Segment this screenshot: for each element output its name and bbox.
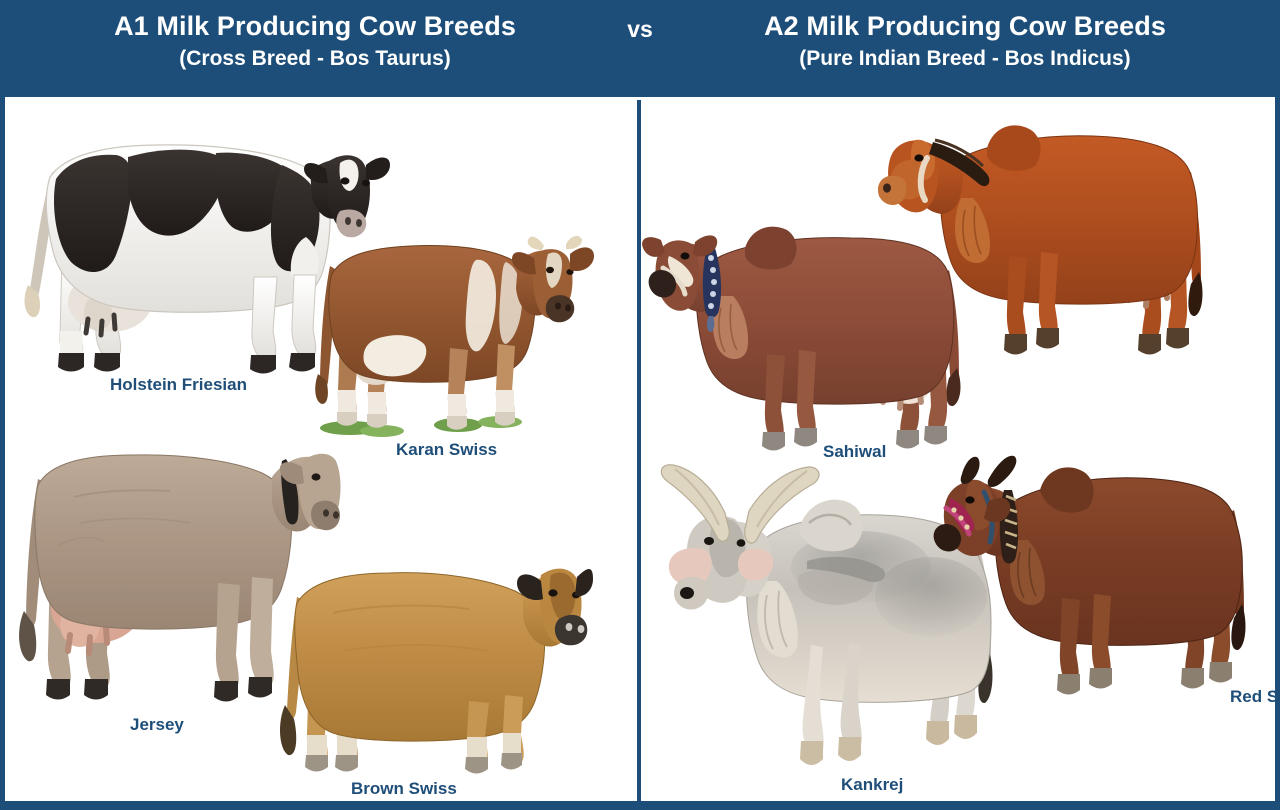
breed-card-karan-swiss[interactable]: Karan Swiss	[310, 232, 595, 462]
header-right-title: A2 Milk Producing Cow Breeds	[650, 8, 1280, 44]
breed-card-gir[interactable]: Gir	[879, 112, 1219, 382]
a1-vs-a2-cow-breeds-infographic: A1 Milk Producing Cow Breeds (Cross Bree…	[0, 0, 1280, 810]
breed-label-kankrej: Kankrej	[841, 775, 903, 795]
panel-a1-breeds: Holstein Friesian	[5, 97, 637, 801]
brown-swiss-illustration	[273, 557, 593, 787]
red-sindhi-illustration	[936, 432, 1261, 707]
header-left-title: A1 Milk Producing Cow Breeds	[0, 8, 630, 44]
breed-label-holstein-friesian: Holstein Friesian	[110, 375, 247, 395]
header-left-subtitle: (Cross Breed - Bos Taurus)	[0, 44, 630, 74]
header-left-column: A1 Milk Producing Cow Breeds (Cross Bree…	[0, 8, 630, 74]
breed-label-jersey: Jersey	[130, 715, 184, 735]
breed-card-red-sindhi[interactable]: Red Sindhi	[936, 432, 1261, 722]
panel-a2-breeds: Sahiwal	[641, 97, 1275, 801]
karan-swiss-illustration	[310, 232, 595, 447]
header-bar: A1 Milk Producing Cow Breeds (Cross Bree…	[0, 0, 1280, 97]
header-right-column: A2 Milk Producing Cow Breeds (Pure India…	[650, 8, 1280, 74]
breed-label-brown-swiss: Brown Swiss	[351, 779, 457, 799]
breed-card-brown-swiss[interactable]: Brown Swiss	[273, 557, 593, 797]
breed-label-karan-swiss: Karan Swiss	[396, 440, 497, 460]
gir-illustration	[879, 112, 1219, 362]
header-right-subtitle: (Pure Indian Breed - Bos Indicus)	[650, 44, 1280, 74]
breed-label-red-sindhi: Red Sindhi	[1230, 687, 1280, 707]
